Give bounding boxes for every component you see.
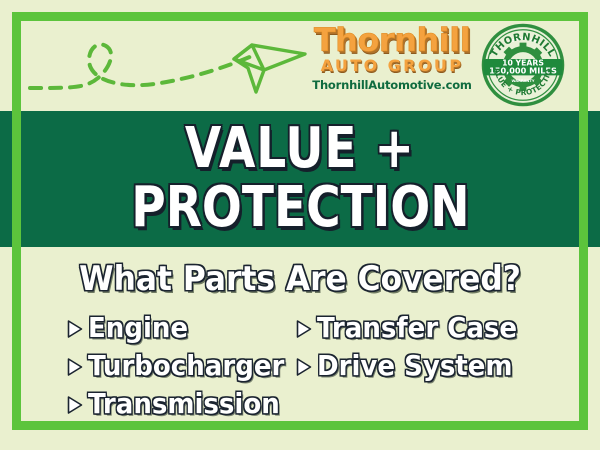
list-item-label: Turbocharger [88, 351, 284, 381]
coverage-question: What Parts Are Covered? [24, 259, 576, 299]
list-item-label: Transfer Case [317, 313, 517, 343]
triangle-bullet-icon [295, 319, 313, 339]
list-item-label: Engine [88, 313, 188, 343]
warranty-advertisement: Thornhill AUTO GROUP ThornhillAutomotive… [0, 0, 600, 450]
warranty-seal-icon: 10 YEARS 150,000 MILES POWERTRAIN WARRAN… [480, 22, 566, 108]
coverage-column-left: Engine Turbocharger Transmission [0, 309, 245, 423]
list-item: Engine [66, 309, 245, 347]
title-line-1: VALUE + [185, 120, 415, 178]
logo-website-text: ThornhillAutomotive.com [312, 78, 472, 92]
logo-brand-text: Thornhill [312, 24, 472, 56]
thornhill-logo[interactable]: Thornhill AUTO GROUP ThornhillAutomotive… [312, 24, 472, 92]
triangle-bullet-icon [66, 357, 84, 377]
list-item: Turbocharger [66, 347, 245, 385]
list-item: Drive System [295, 347, 600, 385]
triangle-bullet-icon [66, 319, 84, 339]
coverage-column-right: Transfer Case Drive System [245, 309, 600, 423]
list-item-label: Transmission [88, 389, 280, 419]
triangle-bullet-icon [295, 357, 313, 377]
list-item: Transmission [66, 385, 245, 423]
coverage-region: What Parts Are Covered? Engine Turbochar… [0, 247, 600, 450]
coverage-columns: Engine Turbocharger Transmission [0, 309, 600, 423]
seal-warranty-text: WARRANTY [511, 79, 534, 83]
dashed-loop-arrow-icon [24, 26, 314, 106]
triangle-bullet-icon [66, 395, 84, 415]
logo-subtitle-text: AUTO GROUP [312, 57, 472, 75]
main-title: VALUE + PROTECTION [0, 112, 600, 246]
list-item-label: Drive System [317, 351, 513, 381]
header-region: Thornhill AUTO GROUP ThornhillAutomotive… [0, 0, 600, 111]
title-line-2: PROTECTION [131, 178, 469, 238]
list-item: Transfer Case [295, 309, 600, 347]
